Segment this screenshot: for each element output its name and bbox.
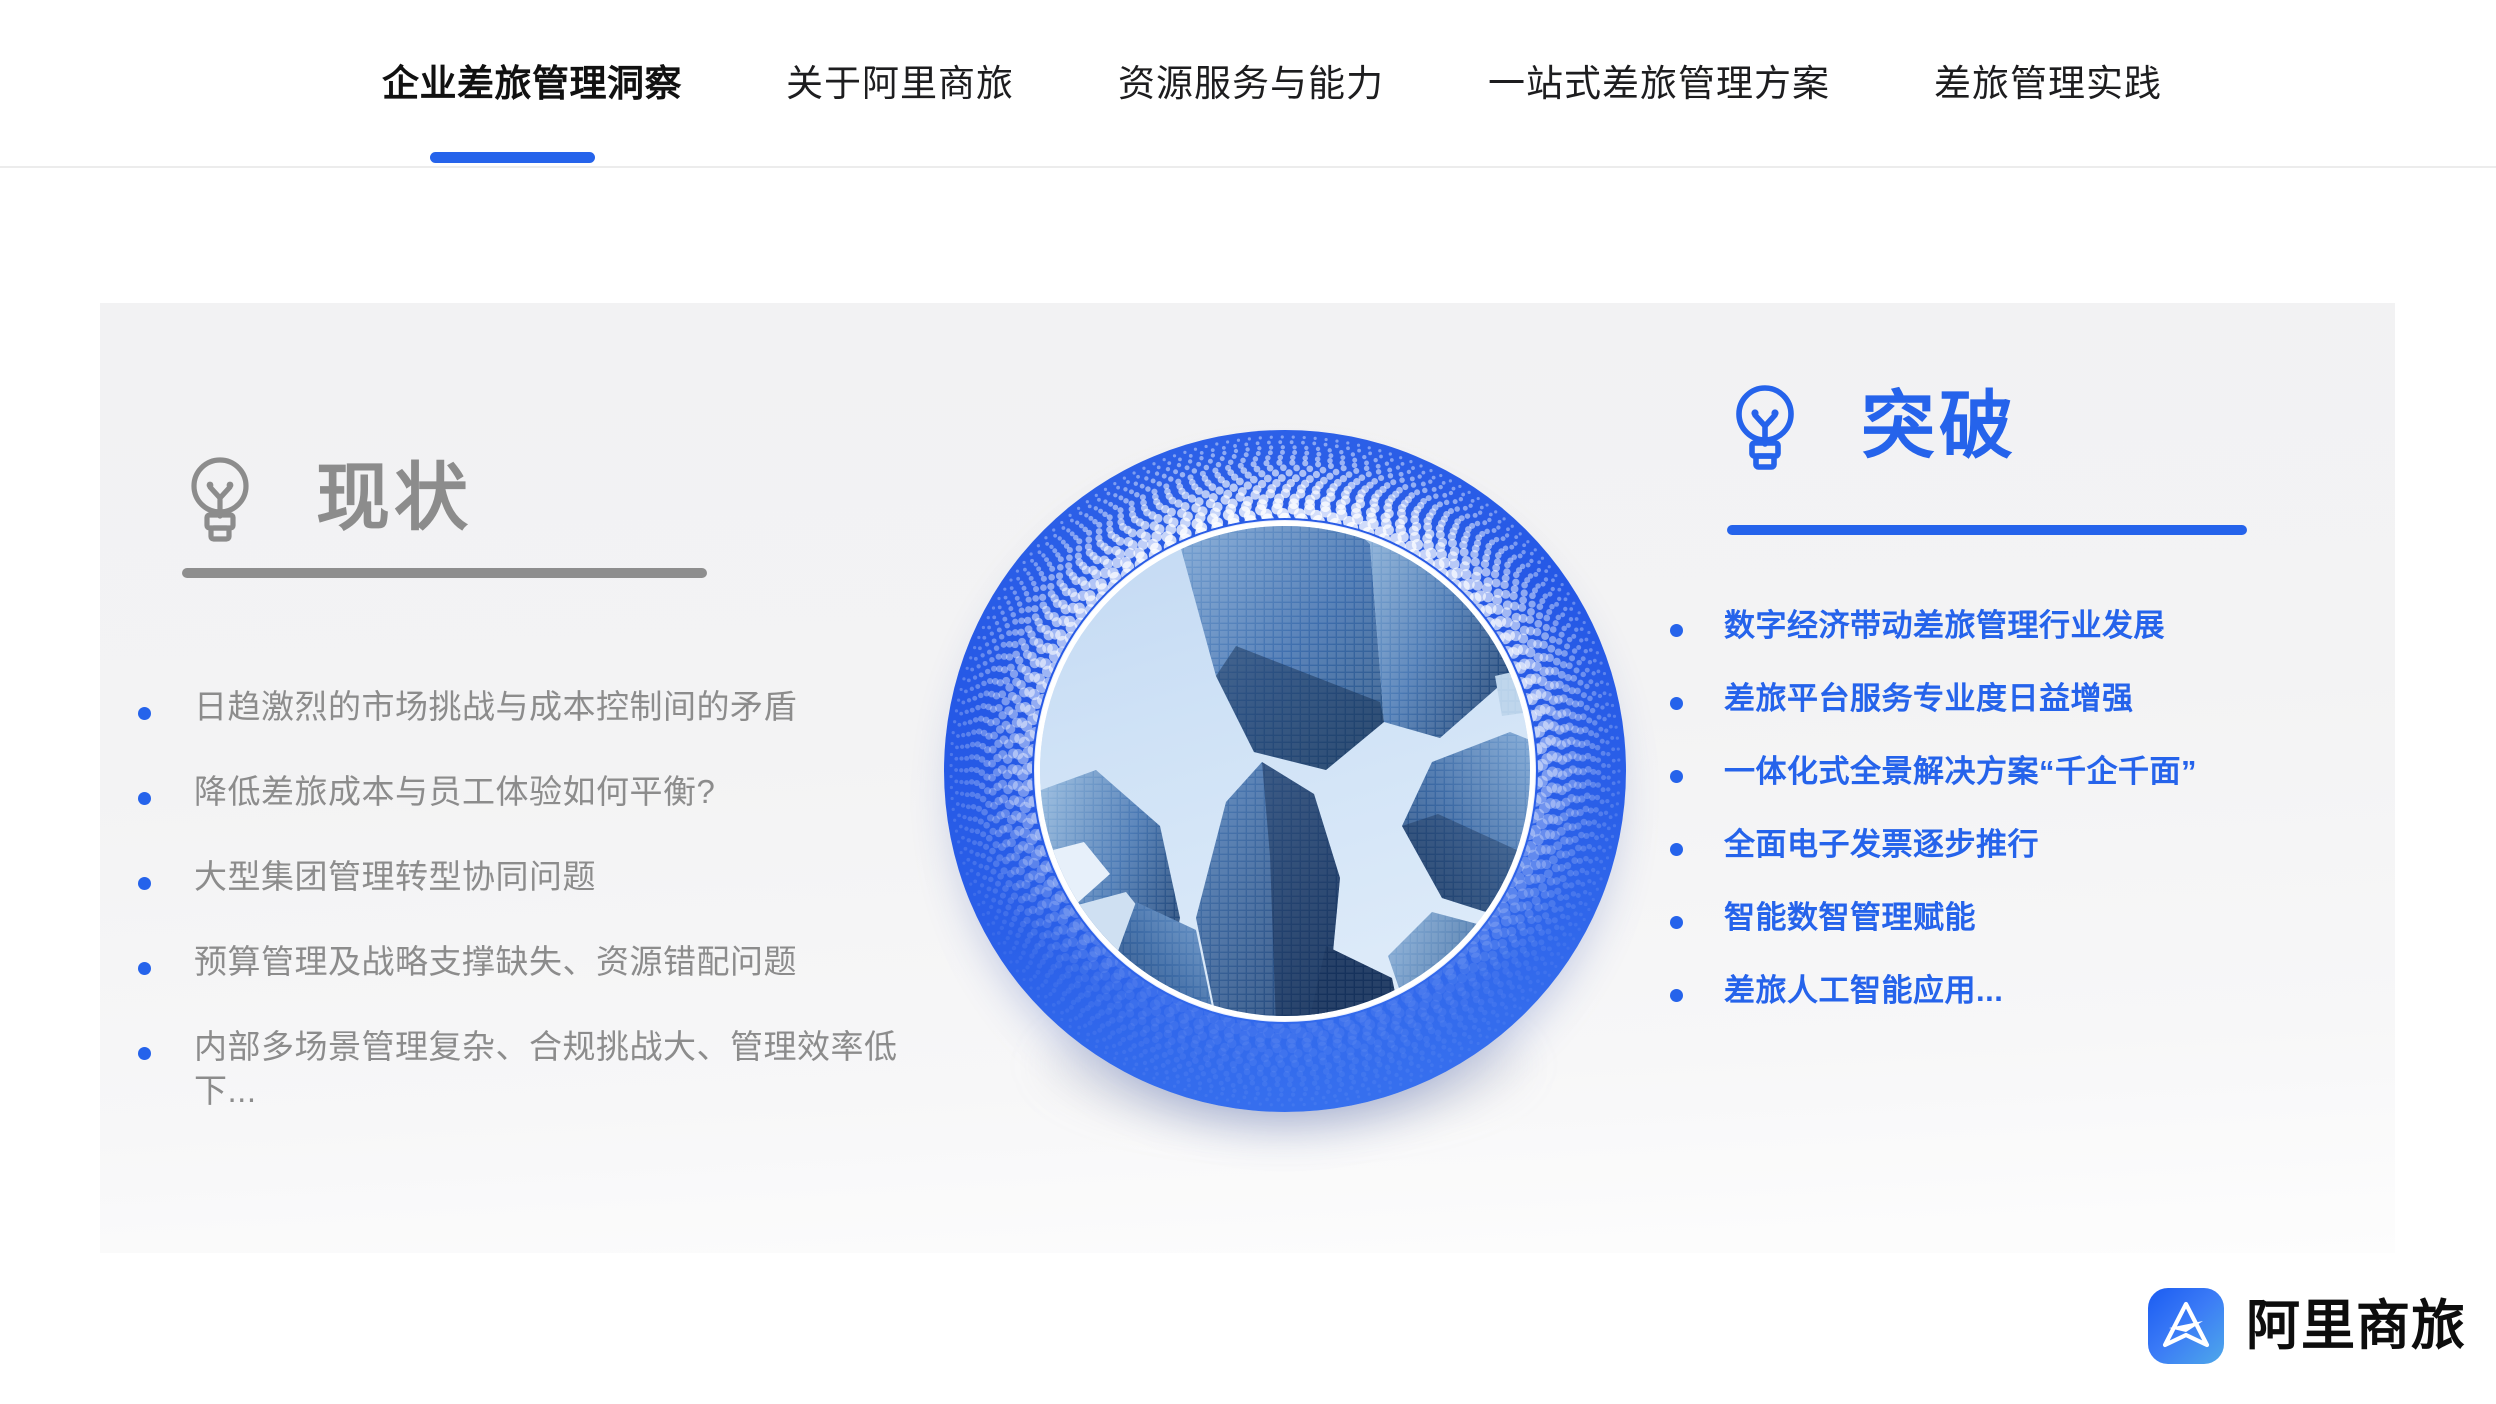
bullet-dot-icon	[1670, 770, 1683, 783]
bullet-dot-icon	[1670, 624, 1683, 637]
lightbulb-icon	[1727, 380, 1803, 472]
left-section-header: 现状	[182, 452, 472, 544]
bullet-dot-icon	[138, 707, 151, 720]
brand-name: 阿里商旅	[2246, 1299, 2466, 1353]
bullet-dot-icon	[138, 792, 151, 805]
brand-logo: 阿里商旅	[2148, 1288, 2466, 1364]
list-item: 差旅人工智能应用...	[1670, 970, 2410, 1011]
list-item: 日趋激烈的市场挑战与成本控制间的矛盾	[138, 685, 898, 729]
bullet-dot-icon	[1670, 697, 1683, 710]
bullet-dot-icon	[138, 962, 151, 975]
nav-item-guanyu-alitrip[interactable]: 关于阿里商旅	[734, 65, 1066, 102]
list-item: 降低差旅成本与员工体验如何平衡?	[138, 770, 898, 814]
top-navigation: 企业差旅管理洞察 关于阿里商旅 资源服务与能力 一站式差旅管理方案 差旅管理实践	[0, 0, 2496, 168]
left-section-title: 现状	[316, 461, 472, 535]
nav-item-yizhanshi-fangan[interactable]: 一站式差旅管理方案	[1436, 65, 1882, 102]
nav-item-qiye-chailv-guanli-dongcha[interactable]: 企业差旅管理洞察	[330, 65, 734, 102]
left-section-divider	[182, 568, 707, 578]
active-tab-indicator	[430, 152, 595, 163]
presentation-slide: 企业差旅管理洞察 关于阿里商旅 资源服务与能力 一站式差旅管理方案 差旅管理实践…	[0, 0, 2496, 1404]
bullet-dot-icon	[138, 1047, 151, 1060]
alitrip-arrow-icon	[2148, 1288, 2224, 1364]
breakthrough-list: 数字经济带动差旅管理行业发展 差旅平台服务专业度日益增强 一体化式全景解决方案“…	[1670, 605, 2410, 1011]
right-section-divider	[1727, 525, 2247, 535]
list-item: 内部多场景管理复杂、合规挑战大、管理效率低下...	[138, 1025, 898, 1113]
skyscraper-illustration	[1040, 526, 1530, 1016]
list-item: 全面电子发票逐步推行	[1670, 824, 2410, 865]
bullet-dot-icon	[1670, 989, 1683, 1002]
skyscraper-photo	[1040, 526, 1530, 1016]
bullet-dot-icon	[1670, 843, 1683, 856]
list-item: 一体化式全景解决方案“千企千面”	[1670, 751, 2410, 792]
list-item: 智能数智管理赋能	[1670, 897, 2410, 938]
list-item: 预算管理及战略支撑缺失、资源错配问题	[138, 940, 898, 984]
right-section-header: 突破	[1727, 380, 2017, 472]
nav-item-ziyuan-fuwu-yu-nengli[interactable]: 资源服务与能力	[1066, 65, 1436, 102]
bullet-dot-icon	[1670, 916, 1683, 929]
list-item: 数字经济带动差旅管理行业发展	[1670, 605, 2410, 646]
nav-item-chailv-guanli-shijian[interactable]: 差旅管理实践	[1882, 65, 2214, 102]
list-item: 差旅平台服务专业度日益增强	[1670, 678, 2410, 719]
blue-ring	[944, 430, 1626, 1112]
lightbulb-icon	[182, 452, 258, 544]
nav-items: 企业差旅管理洞察 关于阿里商旅 资源服务与能力 一站式差旅管理方案 差旅管理实践	[330, 0, 2214, 166]
list-item: 大型集团管理转型协同问题	[138, 855, 898, 899]
center-circular-visual	[944, 430, 1626, 1112]
right-section-title: 突破	[1861, 389, 2017, 463]
current-state-list: 日趋激烈的市场挑战与成本控制间的矛盾 降低差旅成本与员工体验如何平衡? 大型集团…	[138, 685, 898, 1113]
bullet-dot-icon	[138, 877, 151, 890]
